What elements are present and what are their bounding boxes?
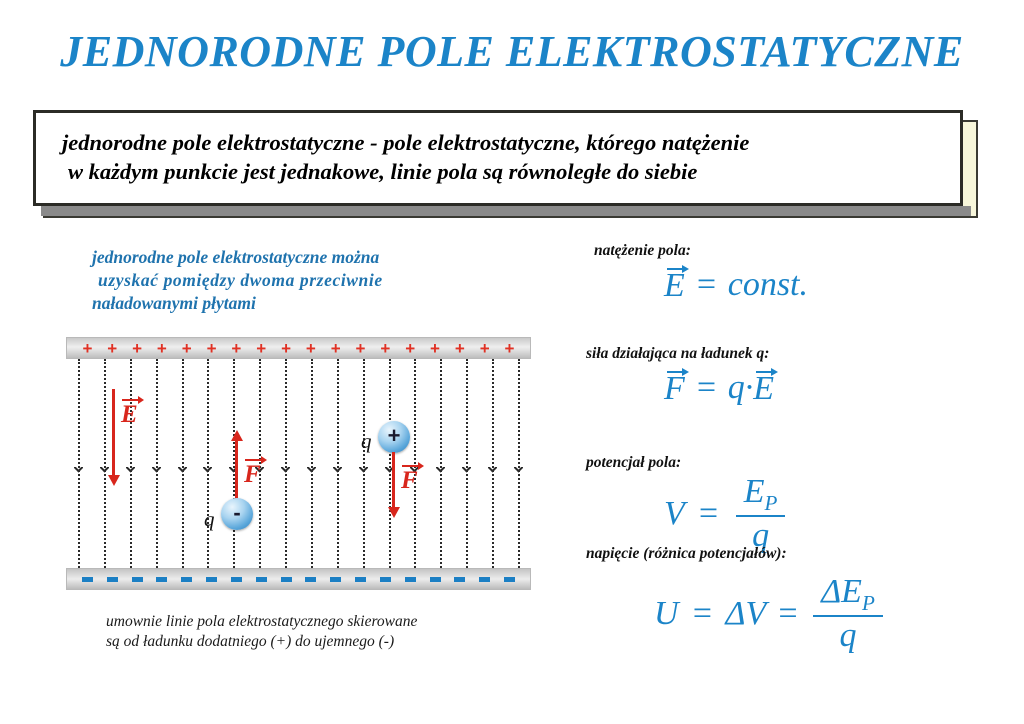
plate-minus-sign	[206, 577, 217, 582]
formula-V-equals: =	[685, 497, 732, 531]
definition-callout: jednorodne pole elektrostatyczne - pole …	[33, 110, 968, 208]
formula-V-fraction: EP q	[736, 473, 786, 555]
field-line	[130, 359, 132, 568]
plate-plus-sign: +	[455, 340, 465, 357]
plate-minus-sign	[305, 577, 316, 582]
vector-F-symbol: F	[664, 370, 685, 406]
plate-plus-sign: +	[331, 340, 341, 357]
plate-plus-sign: +	[380, 340, 390, 357]
plate-minus-sign	[156, 577, 167, 582]
field-line	[285, 359, 287, 568]
formula-V-numerator-base: E	[744, 473, 765, 510]
field-line-arrowhead	[307, 467, 316, 476]
field-line-arrowhead	[488, 467, 497, 476]
field-line	[363, 359, 365, 568]
field-line	[156, 359, 158, 568]
plate-plus-sign: +	[157, 340, 167, 357]
formula-U-numerator-base: ΔE	[821, 573, 862, 610]
plate-minus-sign	[405, 577, 416, 582]
plate-plus-sign: +	[480, 340, 490, 357]
plate-plus-sign: +	[207, 340, 217, 357]
field-line	[207, 359, 209, 568]
vector-label-F-text-neg: F	[244, 461, 261, 488]
field-line	[518, 359, 520, 568]
field-line-arrowhead	[178, 467, 187, 476]
formula-V-numerator-subscript: P	[765, 491, 778, 515]
plate-plus-sign: +	[405, 340, 415, 357]
formula-U-numerator: ΔEP	[813, 573, 883, 615]
plate-minus-sign	[82, 577, 93, 582]
definition-line-2: w każdym punkcie jest jednakowe, linie p…	[62, 158, 934, 187]
plate-minus-sign	[132, 577, 143, 582]
field-line	[182, 359, 184, 568]
field-line	[492, 359, 494, 568]
plate-minus-sign	[380, 577, 391, 582]
plate-minus-sign	[479, 577, 490, 582]
definition-shadow-strip	[41, 206, 971, 216]
formula-V-numerator: EP	[736, 473, 786, 515]
formula-E-equals: =	[685, 268, 728, 302]
positive-charge-q-label: q	[361, 431, 372, 452]
left-intro-line-3: naładowanymi płytami	[92, 292, 522, 315]
plate-minus-sign	[454, 577, 465, 582]
plate-plus-sign: +	[430, 340, 440, 357]
negative-charge-q-label: q	[204, 509, 215, 530]
plate-minus-sign	[330, 577, 341, 582]
formula-label-voltage: napięcie (różnica potencjałów):	[586, 546, 787, 562]
positive-charge-ball: +	[378, 421, 410, 453]
field-line	[440, 359, 442, 568]
plate-plus-sign: +	[82, 340, 92, 357]
formula-force: F = q· E	[664, 370, 774, 406]
positive-charge-symbol: +	[388, 425, 401, 447]
plate-minus-sign	[181, 577, 192, 582]
negative-plate	[66, 568, 531, 590]
field-lines-group	[66, 359, 531, 568]
field-line	[389, 359, 391, 568]
figure-caption: umownie linie pola elektrostatycznego sk…	[106, 612, 566, 652]
plate-plus-sign: +	[256, 340, 266, 357]
field-line	[337, 359, 339, 568]
vector-E-symbol: E	[664, 267, 685, 303]
formula-label-field-strength: natężenie pola:	[594, 243, 691, 259]
formula-label-potential: potencjał pola:	[586, 455, 681, 471]
electric-field-vector-label: E	[121, 395, 138, 427]
field-line-arrowhead	[203, 467, 212, 476]
field-line-arrowhead	[74, 467, 83, 476]
formula-U-fraction: ΔEP q	[813, 573, 883, 655]
formula-U-denominator: q	[832, 617, 865, 655]
left-intro-line-2: uzyskać pomiędzy dwoma przeciwnie	[92, 269, 522, 292]
formula-F-equals: =	[685, 371, 728, 405]
plate-plus-sign: +	[182, 340, 192, 357]
plate-plus-sign: +	[132, 340, 142, 357]
electric-field-vector-arrow	[112, 389, 115, 477]
positive-plate: ++++++++++++++++++	[66, 337, 531, 359]
formula-voltage: U = ΔV = ΔEP q	[654, 573, 887, 655]
plate-minus-sign	[281, 577, 292, 582]
field-line-arrowhead	[462, 467, 471, 476]
formula-U-mid: ΔV	[726, 597, 767, 631]
plate-plus-sign: +	[231, 340, 241, 357]
definition-box: jednorodne pole elektrostatyczne - pole …	[33, 110, 963, 206]
formula-potential: V = EP q	[664, 473, 789, 555]
formula-F-factor: q·	[728, 371, 754, 405]
field-line	[466, 359, 468, 568]
plate-minus-sign	[256, 577, 267, 582]
formula-column: natężenie pola: E = const. siła działają…	[586, 243, 1006, 663]
plate-minus-sign	[231, 577, 242, 582]
plate-plus-sign: +	[306, 340, 316, 357]
force-vector-label-negative: F	[244, 455, 261, 487]
field-line-arrowhead	[281, 467, 290, 476]
left-intro-text: jednorodne pole elektrostatyczne można u…	[92, 246, 522, 315]
formula-field-strength: E = const.	[664, 267, 808, 303]
plate-minus-sign	[504, 577, 515, 582]
vector-label-F-text-pos: F	[401, 467, 418, 494]
vector-arrow-overline-F-neg	[244, 455, 261, 462]
formula-label-force: siła działająca na ładunek q:	[586, 346, 769, 362]
vector-arrow-overline-F-pos	[401, 461, 418, 468]
field-line-arrowhead	[514, 467, 523, 476]
field-line-arrowhead	[333, 467, 342, 476]
field-line	[104, 359, 106, 568]
vector-label-E-text: E	[121, 401, 138, 428]
plate-minus-sign	[355, 577, 366, 582]
left-intro-line-1: jednorodne pole elektrostatyczne można	[92, 247, 379, 267]
figure-caption-line-1: umownie linie pola elektrostatycznego sk…	[106, 613, 417, 630]
vector-E-symbol-rhs: E	[753, 370, 774, 406]
formula-U-lhs: U	[654, 597, 679, 631]
formula-V-lhs: V	[664, 497, 685, 531]
plate-plus-sign: +	[505, 340, 515, 357]
force-vector-label-positive: F	[401, 461, 418, 493]
formula-U-numerator-subscript: P	[862, 591, 875, 615]
field-line-arrowhead	[152, 467, 161, 476]
vector-arrow-overline-E	[121, 395, 138, 402]
vector-overline-F	[665, 366, 686, 375]
page-title: JEDNORODNE POLE ELEKTROSTATYCZNE	[0, 26, 1024, 77]
force-vector-arrow-positive	[392, 452, 395, 509]
field-line-arrowhead	[359, 467, 368, 476]
formula-U-equals-1: =	[679, 597, 726, 631]
definition-line-1: jednorodne pole elektrostatyczne - pole …	[62, 130, 749, 155]
plate-minus-sign	[430, 577, 441, 582]
field-line-arrowhead	[436, 467, 445, 476]
negative-charge-symbol: -	[233, 502, 240, 524]
capacitor-diagram: ++++++++++++++++++ E F - q + q F	[66, 337, 531, 590]
plate-plus-sign: +	[107, 340, 117, 357]
field-line	[78, 359, 80, 568]
formula-E-rhs: const.	[728, 268, 808, 302]
vector-overline-E	[665, 263, 686, 272]
vector-overline-E-rhs	[754, 366, 775, 375]
definition-text: jednorodne pole elektrostatyczne - pole …	[36, 129, 960, 187]
force-vector-arrow-negative	[235, 439, 238, 505]
figure-caption-line-2: są od ładunku dodatniego (+) do ujemnego…	[106, 632, 566, 652]
field-line-arrowhead	[126, 467, 135, 476]
plate-plus-sign: +	[356, 340, 366, 357]
plate-minus-sign	[107, 577, 118, 582]
field-line	[311, 359, 313, 568]
formula-U-equals-2: =	[766, 597, 809, 631]
negative-charge-ball: -	[221, 498, 253, 530]
plate-plus-sign: +	[281, 340, 291, 357]
